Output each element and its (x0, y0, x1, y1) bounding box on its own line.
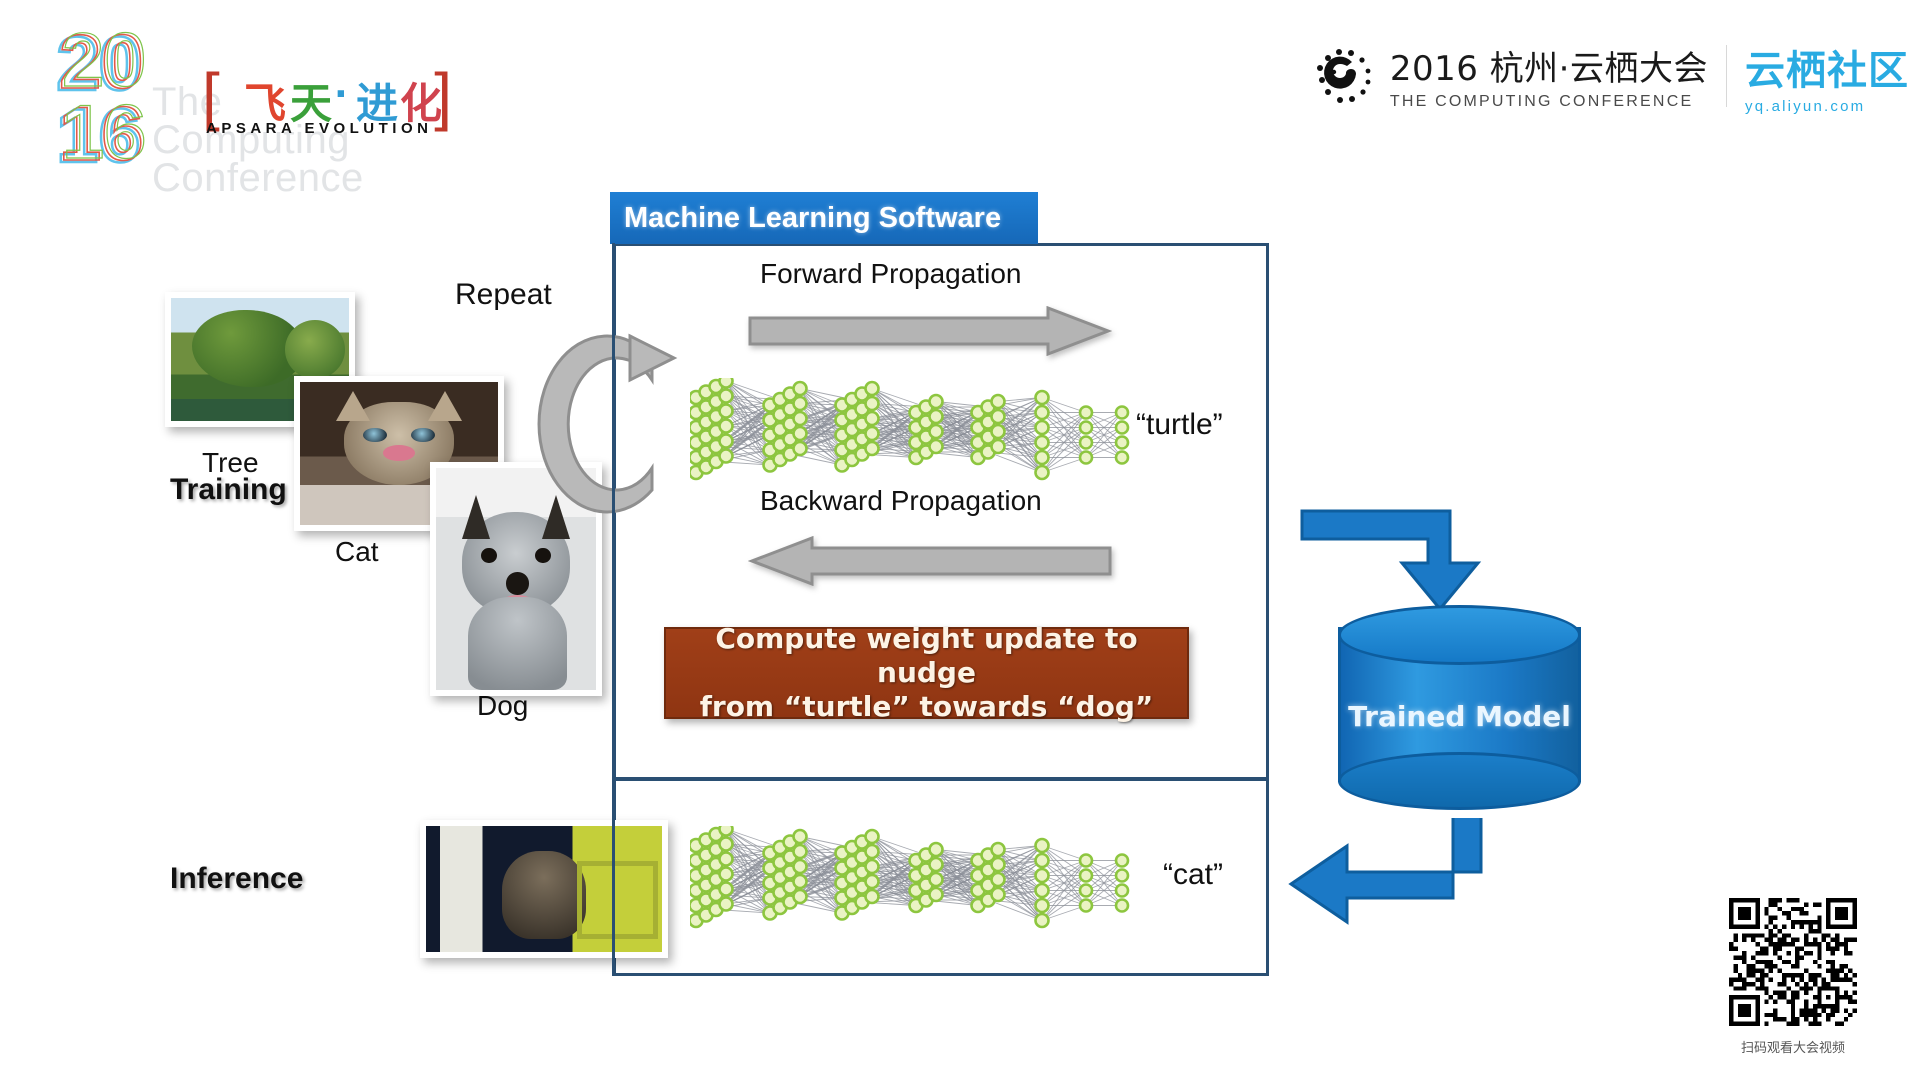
cylinder-top (1338, 605, 1581, 665)
trained-model-output-arrow (1285, 818, 1485, 928)
compute-weight-update-box: Compute weight update to nudge from “tur… (664, 627, 1189, 719)
logo-year-graphic: 20 20 20 16 16 16 (56, 28, 176, 168)
qr-code-block: 扫码观看大会视频 (1718, 898, 1868, 1068)
trained-model-label: Trained Model (1338, 700, 1581, 733)
repeat-label: Repeat (455, 278, 552, 312)
yunqi-community-name: 云栖社区 (1745, 38, 1909, 96)
inference-neural-network-graphic (690, 826, 1145, 941)
ml-box-title-text: Machine Learning Software (624, 202, 1001, 235)
yunqi-community-url: yq.aliyun.com (1745, 98, 1909, 115)
cylinder-bottom (1338, 752, 1581, 810)
forward-propagation-label: Forward Propagation (760, 258, 1021, 290)
inference-cat-photo (426, 826, 662, 952)
training-neural-network-graphic (690, 378, 1145, 493)
qr-code-image (1729, 898, 1857, 1026)
logo-subtitle: APSARA EVOLUTION (206, 120, 432, 137)
svg-text:16: 16 (62, 90, 147, 168)
conference-c-mark-icon (1312, 44, 1376, 108)
trained-model-input-arrow (1300, 505, 1500, 615)
ml-box-title-bar: Machine Learning Software (610, 192, 1038, 244)
logo-bracket-right: ] (434, 64, 452, 128)
training-output-label: “turtle” (1136, 408, 1223, 442)
qr-code-caption: 扫码观看大会视频 (1718, 1037, 1868, 1056)
inference-label: Inference (170, 862, 303, 896)
trained-model-cylinder: Trained Model (1338, 605, 1581, 805)
ml-box-section-divider (613, 777, 1269, 781)
ml-box-left-edge (612, 243, 615, 976)
conference-text-block: 2016 杭州·云栖大会 THE COMPUTING CONFERENCE (1390, 41, 1708, 111)
logo-cn-char-3: · (334, 74, 348, 115)
inference-output-label: “cat” (1163, 858, 1223, 892)
conference-subtitle: THE COMPUTING CONFERENCE (1390, 93, 1708, 111)
logo-ghost-text-line3: Conference (152, 156, 364, 201)
conference-title: 2016 杭州·云栖大会 (1390, 41, 1708, 90)
yunqi-community-block: 云栖社区 yq.aliyun.com (1745, 38, 1909, 115)
compute-box-line1: Compute weight update to nudge (666, 622, 1187, 690)
inference-input-image-cat (420, 820, 668, 958)
logo-bracket-left: [ (202, 64, 220, 128)
apsara-logo: The Computing Conference 20 20 20 16 16 … (56, 28, 476, 168)
conference-logo: 2016 杭州·云栖大会 THE COMPUTING CONFERENCE 云栖… (1312, 36, 1909, 116)
compute-box-line2: from “turtle” towards “dog” (666, 690, 1187, 724)
cat-image-label: Cat (335, 536, 379, 568)
backward-propagation-arrow (748, 536, 1112, 586)
forward-propagation-arrow (748, 306, 1112, 356)
compute-box-text: Compute weight update to nudge from “tur… (666, 622, 1187, 724)
tree-image-label: Tree (202, 447, 259, 479)
logo-divider (1726, 45, 1727, 107)
repeat-cycle-arrow (512, 318, 682, 530)
